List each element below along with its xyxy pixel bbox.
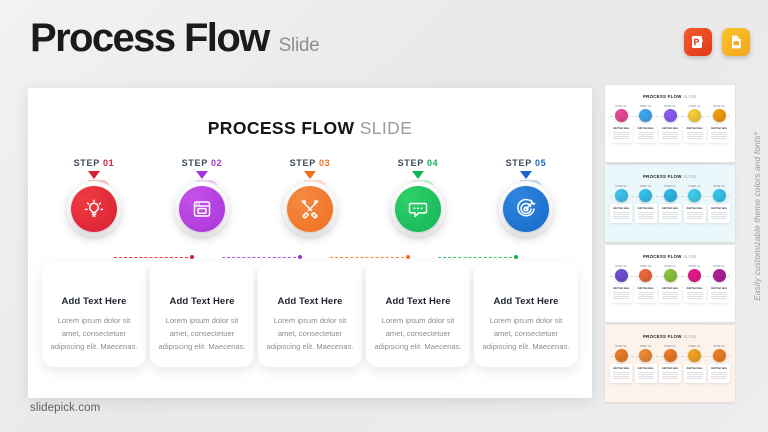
thumbnail-step: STEP 01 Add Text Here xyxy=(610,105,632,143)
thumbnail-text-line xyxy=(711,132,727,133)
thumbnail-text-line xyxy=(687,134,703,135)
thumbnail-step-label: STEP 01 xyxy=(615,265,627,268)
google-slides-badge[interactable] xyxy=(722,28,750,56)
thumbnail-text-line xyxy=(687,216,703,217)
thumbnail-step-dot xyxy=(713,349,726,362)
thumbnail-text-line xyxy=(711,212,727,213)
thumbnail-step: STEP 01 Add Text Here xyxy=(708,265,730,303)
thumbnail-text-line xyxy=(662,212,678,213)
thumbnail-step-card: Add Text Here xyxy=(610,364,632,383)
thumbnail-step-dot xyxy=(713,109,726,122)
thumbnail-text-line xyxy=(687,294,703,295)
thumbnail-step-label: STEP 01 xyxy=(664,185,676,188)
thumbnail-text-line xyxy=(662,138,678,139)
step-card-body: Lorem ipsum dolor sit amet, consectetuer… xyxy=(158,314,246,353)
thumbnail-title-light: SLIDE xyxy=(683,334,697,339)
thumbnail-text-line xyxy=(662,134,678,135)
thumbnail-steps-row: STEP 01 Add Text Here STEP 01 Add Text H… xyxy=(610,345,730,383)
page-subtitle: Slide xyxy=(279,35,320,57)
thumbnail-text-line xyxy=(613,298,629,299)
thumbnail-step-card: Add Text Here xyxy=(659,204,681,223)
step-02: STEP 02 Add Text Here Lorem ipsum dol xyxy=(150,158,254,237)
step-number: 05 xyxy=(535,158,546,168)
thumbnail-step-card: Add Text Here xyxy=(708,284,730,303)
thumbnail-text-line xyxy=(711,292,727,293)
thumbnail-step: STEP 01 Add Text Here xyxy=(610,185,632,223)
thumbnail-step: STEP 01 Add Text Here xyxy=(635,105,657,143)
thumbnail-text-line xyxy=(711,216,727,217)
step-card: Add Text Here Lorem ipsum dolor sit amet… xyxy=(150,262,254,367)
thumbnail-step-dot xyxy=(615,349,628,362)
target-icon xyxy=(514,197,538,221)
thumbnail-text-line xyxy=(662,376,678,377)
thumbnail-step-dot xyxy=(688,109,701,122)
thumbnail-step-dot xyxy=(664,349,677,362)
thumbnail-step-card: Add Text Here xyxy=(610,124,632,143)
thumbnail-step-card: Add Text Here xyxy=(610,284,632,303)
thumbnail-text-line xyxy=(638,136,654,137)
thumbnail-text-line xyxy=(638,374,654,375)
powerpoint-icon xyxy=(690,34,706,50)
thumbnail-text-line xyxy=(662,136,678,137)
connector-arrow-icon xyxy=(514,255,518,259)
slide-title: PROCESS FLOW SLIDE xyxy=(28,118,592,139)
thumbnail-text-line xyxy=(687,212,703,213)
thumbnail-text-line xyxy=(613,132,629,133)
thumbnail-text-line xyxy=(638,214,654,215)
thumbnail-text-line xyxy=(711,376,727,377)
thumbnail-card-title: Add Text Here xyxy=(685,207,705,210)
thumbnail-step-dot xyxy=(639,189,652,202)
thumbnail-text-line xyxy=(687,378,703,379)
thumbnail-step: STEP 01 Add Text Here xyxy=(635,185,657,223)
page-title: Process Flow xyxy=(30,18,269,58)
step-circle[interactable] xyxy=(174,181,230,237)
thumbnail-title: PROCESS FLOW SLIDE xyxy=(605,334,735,339)
step-pointer-icon xyxy=(88,171,100,179)
thumbnail-card-title: Add Text Here xyxy=(685,287,705,290)
step-card-body: Lorem ipsum dolor sit amet, consectetuer… xyxy=(50,314,138,353)
thumbnails-caption: Easily customizable theme colors and fon… xyxy=(753,0,762,432)
step-card-title: Add Text Here xyxy=(374,296,462,307)
thumbnail-text-line xyxy=(662,218,678,219)
thumbnail-text-line xyxy=(638,138,654,139)
thumbnail-step: STEP 01 Add Text Here xyxy=(635,265,657,303)
thumbnail-step-dot xyxy=(688,269,701,282)
thumbnail-step-card: Add Text Here xyxy=(635,204,657,223)
thumbnail-step-card: Add Text Here xyxy=(659,124,681,143)
thumbnail-text-line xyxy=(638,216,654,217)
thumbnail-text-line xyxy=(613,294,629,295)
step-label-text: STEP xyxy=(398,158,424,168)
thumbnail-list: PROCESS FLOW SLIDE STEP 01 Add Text Here… xyxy=(605,85,735,402)
thumbnail-card-title: Add Text Here xyxy=(660,367,680,370)
thumbnail-text-line xyxy=(613,378,629,379)
step-label-text: STEP xyxy=(74,158,100,168)
thumbnail-text-line xyxy=(662,214,678,215)
page-header: Process Flow Slide xyxy=(30,18,319,58)
thumbnail-card-title: Add Text Here xyxy=(611,127,631,130)
step-number: 01 xyxy=(103,158,114,168)
step-card: Add Text Here Lorem ipsum dolor sit amet… xyxy=(474,262,578,367)
thumbnail-card-title: Add Text Here xyxy=(660,127,680,130)
step-pointer-icon xyxy=(412,171,424,179)
step-card-title: Add Text Here xyxy=(50,296,138,307)
thumbnail-title: PROCESS FLOW SLIDE xyxy=(605,254,735,259)
thumbnail-step-card: Add Text Here xyxy=(684,124,706,143)
lightbulb-icon xyxy=(82,197,106,221)
thumbnail-card-title: Add Text Here xyxy=(636,207,656,210)
thumbnail-step: STEP 01 Add Text Here xyxy=(684,265,706,303)
thumbnail-step-card: Add Text Here xyxy=(684,284,706,303)
thumbnail-card-title: Add Text Here xyxy=(660,207,680,210)
thumbnail-text-line xyxy=(711,374,727,375)
thumbnail-text-line xyxy=(613,138,629,139)
thumbnail-title-light: SLIDE xyxy=(683,254,697,259)
step-card-title: Add Text Here xyxy=(158,296,246,307)
thumbnail-text-line xyxy=(662,374,678,375)
thumbnail-step-label: STEP 01 xyxy=(689,265,701,268)
thumbnail-step-label: STEP 01 xyxy=(713,345,725,348)
thumbnail-text-line xyxy=(638,372,654,373)
thumbnail-step-label: STEP 01 xyxy=(664,345,676,348)
thumbnail-title-bold: PROCESS FLOW xyxy=(643,174,682,179)
thumbnail-text-line xyxy=(711,294,727,295)
thumbnail-card-title: Add Text Here xyxy=(611,207,631,210)
thumbnail-text-line xyxy=(638,212,654,213)
thumbnail-text-line xyxy=(711,214,727,215)
step-01: STEP 01 Add Text Here Lorem ipsum dolor … xyxy=(42,158,146,237)
connector-line xyxy=(222,257,296,258)
thumbnail-text-line xyxy=(613,212,629,213)
thumbnail-text-line xyxy=(662,298,678,299)
step-label: STEP 03 xyxy=(290,158,331,168)
thumbnail-card-title: Add Text Here xyxy=(685,127,705,130)
thumbnail-steps-row: STEP 01 Add Text Here STEP 01 Add Text H… xyxy=(610,185,730,223)
thumbnail-text-line xyxy=(638,134,654,135)
thumbnail-title-light: SLIDE xyxy=(683,94,697,99)
thumbnail-step-dot xyxy=(639,269,652,282)
thumbnail-text-line xyxy=(613,134,629,135)
step-card-title: Add Text Here xyxy=(266,296,354,307)
thumbnail-step: STEP 01 Add Text Here xyxy=(610,265,632,303)
thumbnail-step-dot xyxy=(713,269,726,282)
thumbnail-title-bold: PROCESS FLOW xyxy=(643,254,682,259)
slides-icon xyxy=(728,34,744,50)
connector-line xyxy=(114,257,188,258)
thumbnail-step: STEP 01 Add Text Here xyxy=(708,105,730,143)
step-pointer-icon xyxy=(520,171,532,179)
step-label: STEP 05 xyxy=(506,158,547,168)
connector-arrow-icon xyxy=(190,255,194,259)
thumbnail-step-label: STEP 01 xyxy=(689,185,701,188)
chat-bubble-icon xyxy=(406,197,430,221)
thumbnail-step-card: Add Text Here xyxy=(635,364,657,383)
thumbnail-title-light: SLIDE xyxy=(683,174,697,179)
thumbnail-step-label: STEP 01 xyxy=(640,185,652,188)
thumbnail-text-line xyxy=(687,214,703,215)
step-03: STEP 03 Add Text Here Lorem xyxy=(258,158,362,237)
thumbnail-text-line xyxy=(711,134,727,135)
thumbnails-caption-text: Easily customizable theme colors and fon… xyxy=(753,132,762,301)
thumbnail-text-line xyxy=(687,136,703,137)
step-circle[interactable] xyxy=(282,181,338,237)
step-card: Add Text Here Lorem ipsum dolor sit amet… xyxy=(258,262,362,367)
thumbnail-step-card: Add Text Here xyxy=(708,124,730,143)
thumbnail-card-title: Add Text Here xyxy=(709,287,729,290)
step-number: 04 xyxy=(427,158,438,168)
step-label-text: STEP xyxy=(506,158,532,168)
thumbnail-step-card: Add Text Here xyxy=(684,364,706,383)
thumbnail-text-line xyxy=(638,296,654,297)
thumbnail-step-label: STEP 01 xyxy=(689,105,701,108)
thumbnail-text-line xyxy=(687,218,703,219)
thumbnail-text-line xyxy=(613,292,629,293)
thumbnail-text-line xyxy=(687,376,703,377)
thumbnail-step: STEP 01 Add Text Here xyxy=(610,345,632,383)
thumbnail-step-label: STEP 01 xyxy=(664,265,676,268)
thumbnail-step-label: STEP 01 xyxy=(615,185,627,188)
thumbnail-step: STEP 01 Add Text Here xyxy=(684,185,706,223)
step-card-body: Lorem ipsum dolor sit amet, consectetuer… xyxy=(266,314,354,353)
step-connector xyxy=(330,256,410,258)
step-card: Add Text Here Lorem ipsum dolor sit amet… xyxy=(42,262,146,367)
thumbnail-card-title: Add Text Here xyxy=(685,367,705,370)
thumbnail-text-line xyxy=(613,296,629,297)
step-05: STEP 05 Add Text Here Lorem ipsum dolor … xyxy=(474,158,578,237)
thumbnail-step-label: STEP 01 xyxy=(713,185,725,188)
thumbnail-title-bold: PROCESS FLOW xyxy=(643,334,682,339)
thumbnail-text-line xyxy=(711,136,727,137)
step-label-text: STEP xyxy=(182,158,208,168)
thumbnail-step-card: Add Text Here xyxy=(708,204,730,223)
slide-canvas: PROCESS FLOW SLIDE STEP 01 Add Text Her xyxy=(28,88,592,398)
powerpoint-badge[interactable] xyxy=(684,28,712,56)
thumbnail-multicolor[interactable]: PROCESS FLOW SLIDE STEP 01 Add Text Here… xyxy=(605,85,735,162)
step-number: 02 xyxy=(211,158,222,168)
thumbnail-step-card: Add Text Here xyxy=(708,364,730,383)
thumbnail-text-line xyxy=(687,292,703,293)
thumbnail-text-line xyxy=(638,218,654,219)
thumbnail-step-label: STEP 01 xyxy=(713,105,725,108)
thumbnail-text-line xyxy=(638,298,654,299)
thumbnail-step: STEP 01 Add Text Here xyxy=(659,265,681,303)
thumbnail-step: STEP 01 Add Text Here xyxy=(684,345,706,383)
step-circle-disc xyxy=(287,186,333,232)
thumbnail-text-line xyxy=(638,378,654,379)
thumbnail-step: STEP 01 Add Text Here xyxy=(659,185,681,223)
thumbnail-text-line xyxy=(613,136,629,137)
thumbnail-text-line xyxy=(687,132,703,133)
thumbnail-text-line xyxy=(711,138,727,139)
thumbnail-step-label: STEP 01 xyxy=(689,345,701,348)
thumbnail-step: STEP 01 Add Text Here xyxy=(684,105,706,143)
thumbnail-step-dot xyxy=(664,269,677,282)
connector-line xyxy=(330,257,404,258)
thumbnail-text-line xyxy=(613,216,629,217)
thumbnail-step: STEP 01 Add Text Here xyxy=(659,105,681,143)
thumbnail-text-line xyxy=(662,378,678,379)
thumbnail-title: PROCESS FLOW SLIDE xyxy=(605,174,735,179)
thumbnail-text-line xyxy=(613,372,629,373)
step-circle-disc xyxy=(71,186,117,232)
thumbnail-step-card: Add Text Here xyxy=(635,284,657,303)
browser-window-icon xyxy=(190,197,214,221)
connector-arrow-icon xyxy=(406,255,410,259)
thumbnail-step-card: Add Text Here xyxy=(659,364,681,383)
thumbnail-text-line xyxy=(662,294,678,295)
thumbnail-step: STEP 01 Add Text Here xyxy=(708,185,730,223)
thumbnail-step-label: STEP 01 xyxy=(664,105,676,108)
connector-line xyxy=(438,257,512,258)
thumbnail-step-card: Add Text Here xyxy=(610,204,632,223)
thumbnail-text-line xyxy=(711,298,727,299)
thumbnail-step-dot xyxy=(615,189,628,202)
step-card: Add Text Here Lorem ipsum dolor sit amet… xyxy=(366,262,470,367)
thumbnail-card-title: Add Text Here xyxy=(611,287,631,290)
step-label: STEP 04 xyxy=(398,158,439,168)
thumbnail-card-title: Add Text Here xyxy=(636,127,656,130)
thumbnail-text-line xyxy=(711,218,727,219)
thumbnail-text-line xyxy=(638,132,654,133)
thumbnail-card-title: Add Text Here xyxy=(709,207,729,210)
step-connector xyxy=(222,256,302,258)
thumbnail-text-line xyxy=(662,372,678,373)
thumbnail-cyan[interactable]: PROCESS FLOW SLIDE STEP 01 Add Text Here… xyxy=(605,165,735,242)
thumbnail-steps-row: STEP 01 Add Text Here STEP 01 Add Text H… xyxy=(610,265,730,303)
thumbnail-step-dot xyxy=(664,109,677,122)
thumbnail-step-dot xyxy=(688,349,701,362)
thumbnail-text-line xyxy=(662,296,678,297)
thumbnail-text-line xyxy=(687,296,703,297)
thumbnail-step: STEP 01 Add Text Here xyxy=(635,345,657,383)
thumbnail-title: PROCESS FLOW SLIDE xyxy=(605,94,735,99)
thumbnail-text-line xyxy=(613,214,629,215)
thumbnail-text-line xyxy=(613,374,629,375)
slide-title-light: SLIDE xyxy=(360,118,413,138)
steps-row: STEP 01 Add Text Here Lorem ipsum dolor … xyxy=(42,158,578,237)
thumbnail-step-label: STEP 01 xyxy=(615,105,627,108)
thumbnail-step-label: STEP 01 xyxy=(640,265,652,268)
thumbnail-card-title: Add Text Here xyxy=(636,287,656,290)
thumbnail-text-line xyxy=(638,294,654,295)
brand-label: slidepick.com xyxy=(30,402,100,414)
step-circle[interactable] xyxy=(66,181,122,237)
thumbnail-text-line xyxy=(687,298,703,299)
step-circle-disc xyxy=(503,186,549,232)
thumbnail-title-bold: PROCESS FLOW xyxy=(643,94,682,99)
step-card-body: Lorem ipsum dolor sit amet, consectetuer… xyxy=(482,314,570,353)
connector-arrow-icon xyxy=(298,255,302,259)
step-04: STEP 04 Add Text Here Lorem ipsum dolor … xyxy=(366,158,470,237)
thumbnail-text-line xyxy=(711,296,727,297)
thumbnail-text-line xyxy=(687,372,703,373)
thumbnail-step-dot xyxy=(639,109,652,122)
step-label: STEP 02 xyxy=(182,158,223,168)
thumbnail-steps-row: STEP 01 Add Text Here STEP 01 Add Text H… xyxy=(610,105,730,143)
thumbnail-step-dot xyxy=(664,189,677,202)
thumbnail-step-label: STEP 01 xyxy=(713,265,725,268)
thumbnail-card-title: Add Text Here xyxy=(660,287,680,290)
tools-icon xyxy=(298,197,322,221)
step-circle[interactable] xyxy=(390,181,446,237)
thumbnail-text-line xyxy=(711,372,727,373)
app-badges xyxy=(684,28,750,56)
thumbnail-step-card: Add Text Here xyxy=(659,284,681,303)
thumbnail-step-dot xyxy=(615,109,628,122)
step-card-body: Lorem ipsum dolor sit amet, consectetuer… xyxy=(374,314,462,353)
step-label: STEP 01 xyxy=(74,158,115,168)
step-connector xyxy=(438,256,518,258)
thumbnail-text-line xyxy=(662,132,678,133)
thumbnail-text-line xyxy=(687,138,703,139)
thumbnail-text-line xyxy=(687,374,703,375)
thumbnail-violet[interactable]: PROCESS FLOW SLIDE STEP 01 Add Text Here… xyxy=(605,245,735,322)
thumbnail-card-title: Add Text Here xyxy=(611,367,631,370)
thumbnail-step-dot xyxy=(639,349,652,362)
step-circle-disc xyxy=(179,186,225,232)
thumbnail-text-line xyxy=(613,218,629,219)
step-card-title: Add Text Here xyxy=(482,296,570,307)
thumbnail-step-label: STEP 01 xyxy=(640,345,652,348)
thumbnail-text-line xyxy=(638,292,654,293)
thumbnail-step-dot xyxy=(713,189,726,202)
thumbnail-step-dot xyxy=(688,189,701,202)
step-circle[interactable] xyxy=(498,181,554,237)
thumbnail-text-line xyxy=(662,292,678,293)
step-pointer-icon xyxy=(196,171,208,179)
thumbnail-step: STEP 01 Add Text Here xyxy=(659,345,681,383)
thumbnail-step-dot xyxy=(615,269,628,282)
slide-title-bold: PROCESS FLOW xyxy=(208,118,355,138)
thumbnail-step-card: Add Text Here xyxy=(635,124,657,143)
thumbnail-step: STEP 01 Add Text Here xyxy=(708,345,730,383)
thumbnail-text-line xyxy=(711,378,727,379)
thumbnail-orange[interactable]: PROCESS FLOW SLIDE STEP 01 Add Text Here… xyxy=(605,325,735,402)
thumbnail-text-line xyxy=(613,376,629,377)
step-number: 03 xyxy=(319,158,330,168)
thumbnail-card-title: Add Text Here xyxy=(636,367,656,370)
step-circle-disc xyxy=(395,186,441,232)
thumbnail-step-label: STEP 01 xyxy=(640,105,652,108)
thumbnail-step-label: STEP 01 xyxy=(615,345,627,348)
thumbnail-card-title: Add Text Here xyxy=(709,127,729,130)
thumbnail-text-line xyxy=(638,376,654,377)
step-label-text: STEP xyxy=(290,158,316,168)
step-pointer-icon xyxy=(304,171,316,179)
thumbnail-step-card: Add Text Here xyxy=(684,204,706,223)
step-connector xyxy=(114,256,194,258)
thumbnail-text-line xyxy=(662,216,678,217)
thumbnail-card-title: Add Text Here xyxy=(709,367,729,370)
